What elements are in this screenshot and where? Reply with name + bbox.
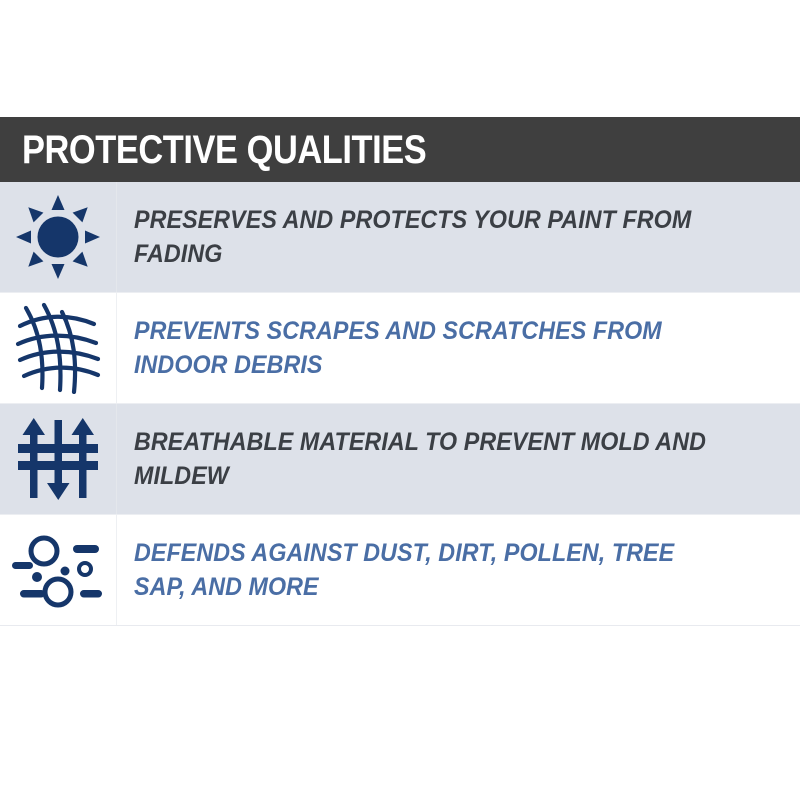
- feature-panel: PROTECTIVE QUALITIES: [0, 117, 800, 626]
- scratch-mesh-icon: [14, 302, 102, 394]
- dust-particles-icon: [12, 527, 104, 613]
- feature-text: BREATHABLE MATERIAL TO PREVENT MOLD AND …: [134, 425, 716, 493]
- sun-icon: [16, 195, 100, 279]
- feature-icon-cell: [0, 293, 117, 403]
- breathable-airflow-icon: [17, 416, 99, 502]
- feature-text-cell: BREATHABLE MATERIAL TO PREVENT MOLD AND …: [117, 404, 800, 514]
- panel-header: PROTECTIVE QUALITIES: [0, 117, 800, 182]
- feature-row: DEFENDS AGAINST DUST, DIRT, POLLEN, TREE…: [0, 514, 800, 625]
- feature-row: PRESERVES AND PROTECTS YOUR PAINT FROM F…: [0, 182, 800, 292]
- feature-text: DEFENDS AGAINST DUST, DIRT, POLLEN, TREE…: [134, 536, 716, 604]
- panel-header-title: PROTECTIVE QUALITIES: [22, 130, 426, 170]
- protective-qualities-infographic: PROTECTIVE QUALITIES: [0, 0, 800, 800]
- feature-row: PREVENTS SCRAPES AND SCRATCHES FROM INDO…: [0, 292, 800, 403]
- feature-text-cell: PRESERVES AND PROTECTS YOUR PAINT FROM F…: [117, 182, 800, 292]
- feature-text-cell: PREVENTS SCRAPES AND SCRATCHES FROM INDO…: [117, 293, 800, 403]
- feature-row: BREATHABLE MATERIAL TO PREVENT MOLD AND …: [0, 403, 800, 514]
- feature-text: PREVENTS SCRAPES AND SCRATCHES FROM INDO…: [134, 314, 716, 382]
- feature-icon-cell: [0, 404, 117, 514]
- feature-text-cell: DEFENDS AGAINST DUST, DIRT, POLLEN, TREE…: [117, 515, 800, 625]
- feature-icon-cell: [0, 182, 117, 292]
- feature-icon-cell: [0, 515, 117, 625]
- feature-text: PRESERVES AND PROTECTS YOUR PAINT FROM F…: [134, 203, 716, 271]
- feature-row-list: PRESERVES AND PROTECTS YOUR PAINT FROM F…: [0, 182, 800, 626]
